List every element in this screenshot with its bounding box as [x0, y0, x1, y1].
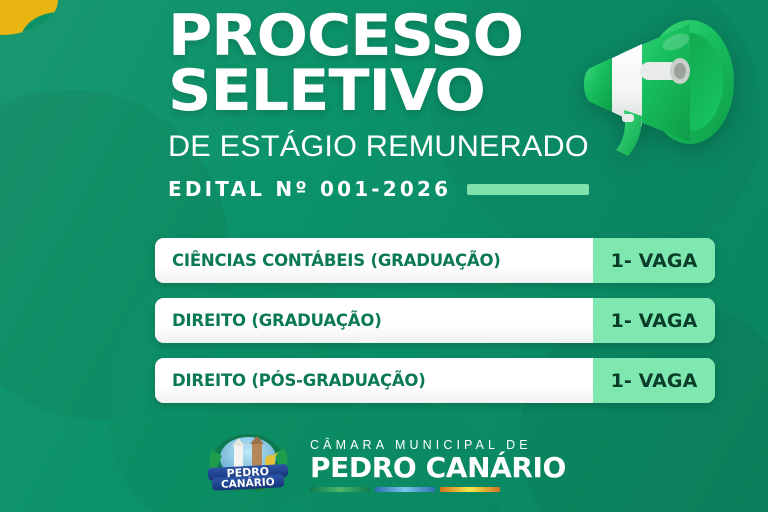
brand-bar-yellow — [440, 487, 500, 492]
vacancy-count-badge: 1- VAGA — [593, 238, 715, 283]
table-row[interactable]: DIREITO (GRADUAÇÃO) 1- VAGA — [155, 298, 715, 343]
poster-footer: PEDRO CANÁRIO CÂMARA MUNICIPAL DE PEDRO … — [0, 432, 768, 498]
yellow-corner-accent — [0, 0, 58, 35]
table-row[interactable]: DIREITO (PÓS-GRADUAÇÃO) 1- VAGA — [155, 358, 715, 403]
vacancy-course-label: DIREITO (PÓS-GRADUAÇÃO) — [155, 358, 593, 403]
page-title-line1: PROCESSO — [168, 10, 624, 63]
title-block: PROCESSO SELETIVO DE ESTÁGIO REMUNERADO … — [168, 10, 598, 201]
table-row[interactable]: CIÊNCIAS CONTÁBEIS (GRADUAÇÃO) 1- VAGA — [155, 238, 715, 283]
municipal-crest-logo: PEDRO CANÁRIO — [202, 432, 294, 498]
brand-tricolor-bar — [310, 487, 500, 492]
vacancy-count-badge: 1- VAGA — [593, 358, 715, 403]
vacancy-course-label: DIREITO (GRADUAÇÃO) — [155, 298, 593, 343]
edital-accent-bar — [467, 184, 589, 195]
edital-number: EDITAL Nº 001-2026 — [168, 177, 451, 201]
brand-block: CÂMARA MUNICIPAL DE PEDRO CANÁRIO — [310, 438, 566, 491]
megaphone-icon — [572, 14, 762, 160]
page-title-line2: SELETIVO — [168, 65, 624, 118]
vacancy-list: CIÊNCIAS CONTÁBEIS (GRADUAÇÃO) 1- VAGA D… — [155, 238, 715, 418]
vacancy-count-badge: 1- VAGA — [593, 298, 715, 343]
brand-bar-blue — [375, 487, 435, 492]
edital-row: EDITAL Nº 001-2026 — [168, 177, 598, 201]
page-subtitle: DE ESTÁGIO REMUNERADO — [168, 130, 607, 164]
organization-name: PEDRO CANÁRIO — [310, 453, 566, 482]
poster-canvas: PROCESSO SELETIVO DE ESTÁGIO REMUNERADO … — [0, 0, 768, 512]
vacancy-course-label: CIÊNCIAS CONTÁBEIS (GRADUAÇÃO) — [155, 238, 593, 283]
brand-bar-green — [310, 487, 370, 492]
